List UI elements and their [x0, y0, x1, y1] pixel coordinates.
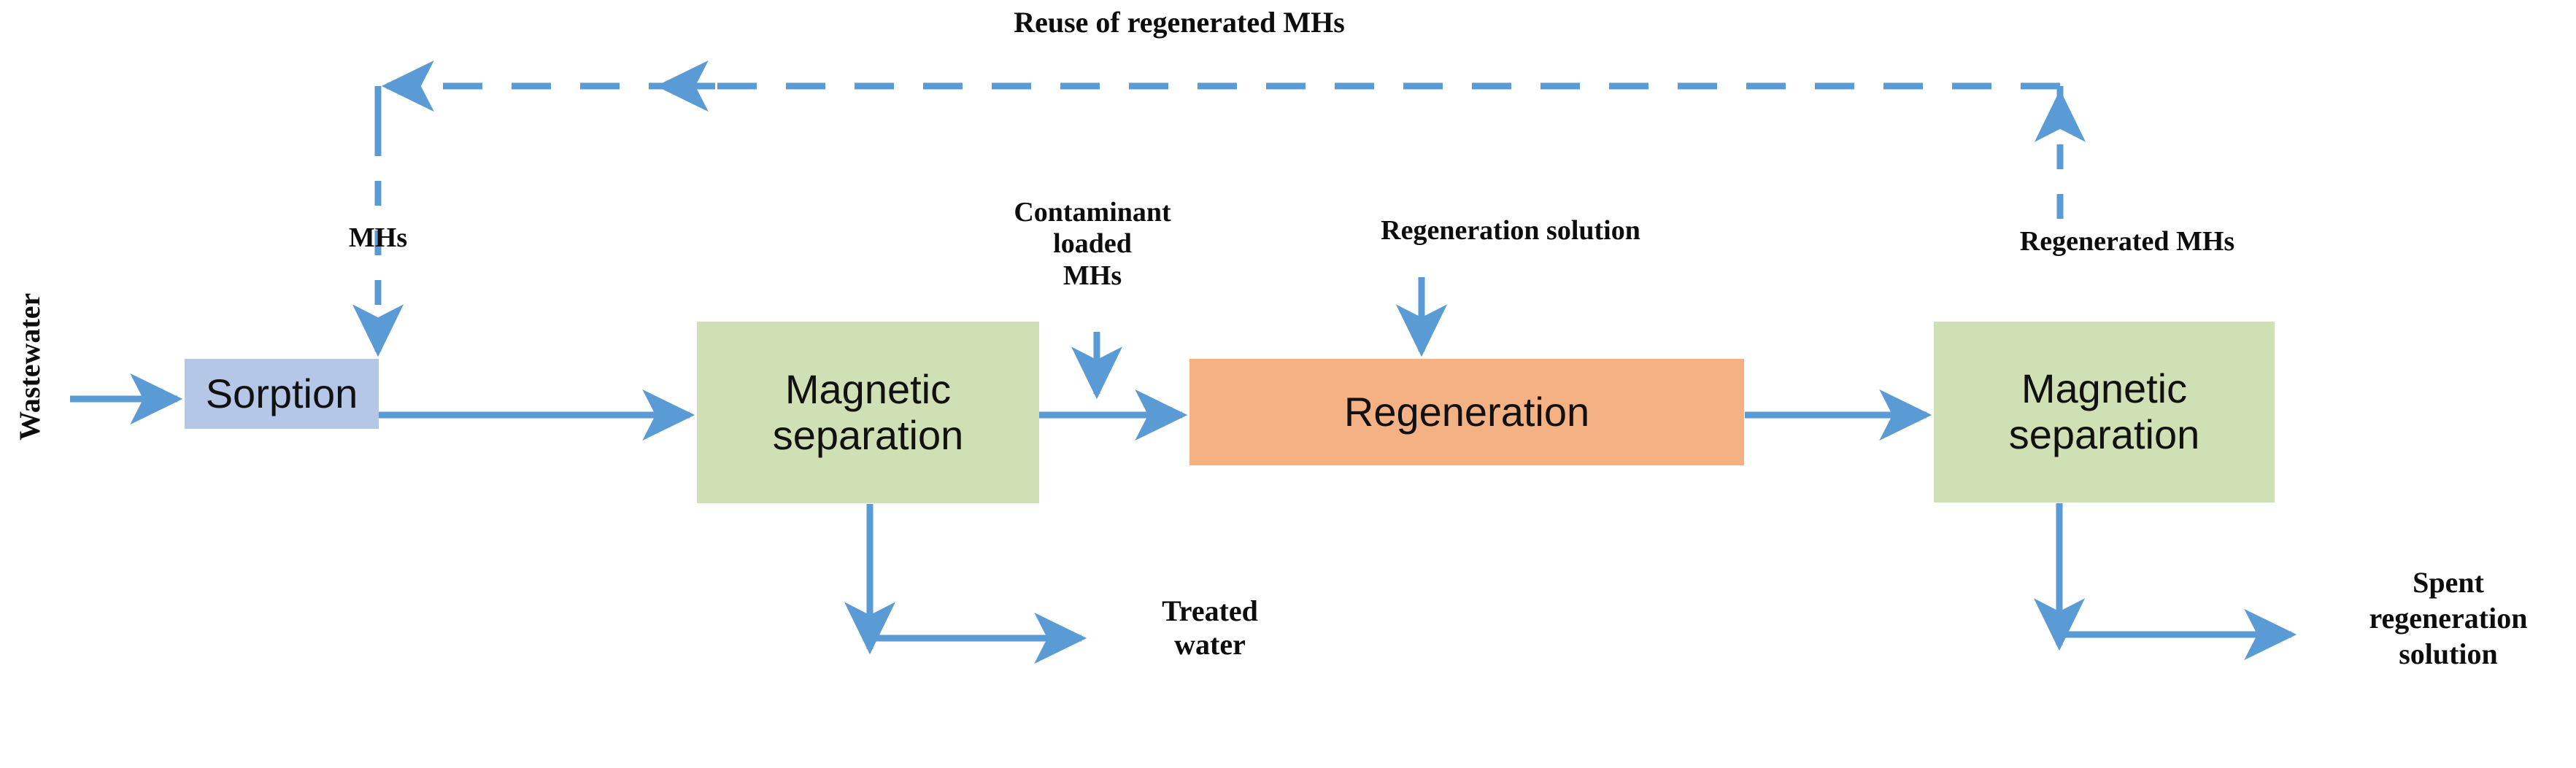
- label-mhs: MHs: [305, 222, 451, 254]
- node-sorption-label: Sorption: [206, 371, 358, 417]
- node-sorption[interactable]: Sorption: [185, 359, 379, 429]
- label-regeneration-solution: Regeneration solution: [1306, 215, 1715, 247]
- diagram-canvas: Sorption Magnetic separation Regeneratio…: [0, 0, 2576, 768]
- node-regeneration[interactable]: Regeneration: [1189, 359, 1744, 465]
- diagram-title: Reuse of regenerated MHs: [887, 6, 1471, 39]
- label-wastewater: Wastewater: [13, 283, 47, 451]
- node-regeneration-label: Regeneration: [1344, 389, 1589, 435]
- label-spent-regeneration-solution: Spent regeneration solution: [2321, 565, 2576, 672]
- node-magsep2-label-line1: Magnetic: [2009, 366, 2200, 412]
- node-magsep1-label-line1: Magnetic: [773, 367, 964, 413]
- node-magsep2-label-line2: separation: [2009, 412, 2200, 458]
- node-magnetic-separation-1[interactable]: Magnetic separation: [697, 322, 1039, 503]
- node-magsep1-label-line2: separation: [773, 413, 964, 459]
- node-magnetic-separation-2[interactable]: Magnetic separation: [1934, 322, 2275, 503]
- label-treated-water: Treated water: [1108, 594, 1312, 661]
- label-contaminant-loaded-mhs: Contaminant loaded MHs: [987, 197, 1198, 292]
- label-regenerated-mhs: Regenerated MHs: [1956, 226, 2299, 257]
